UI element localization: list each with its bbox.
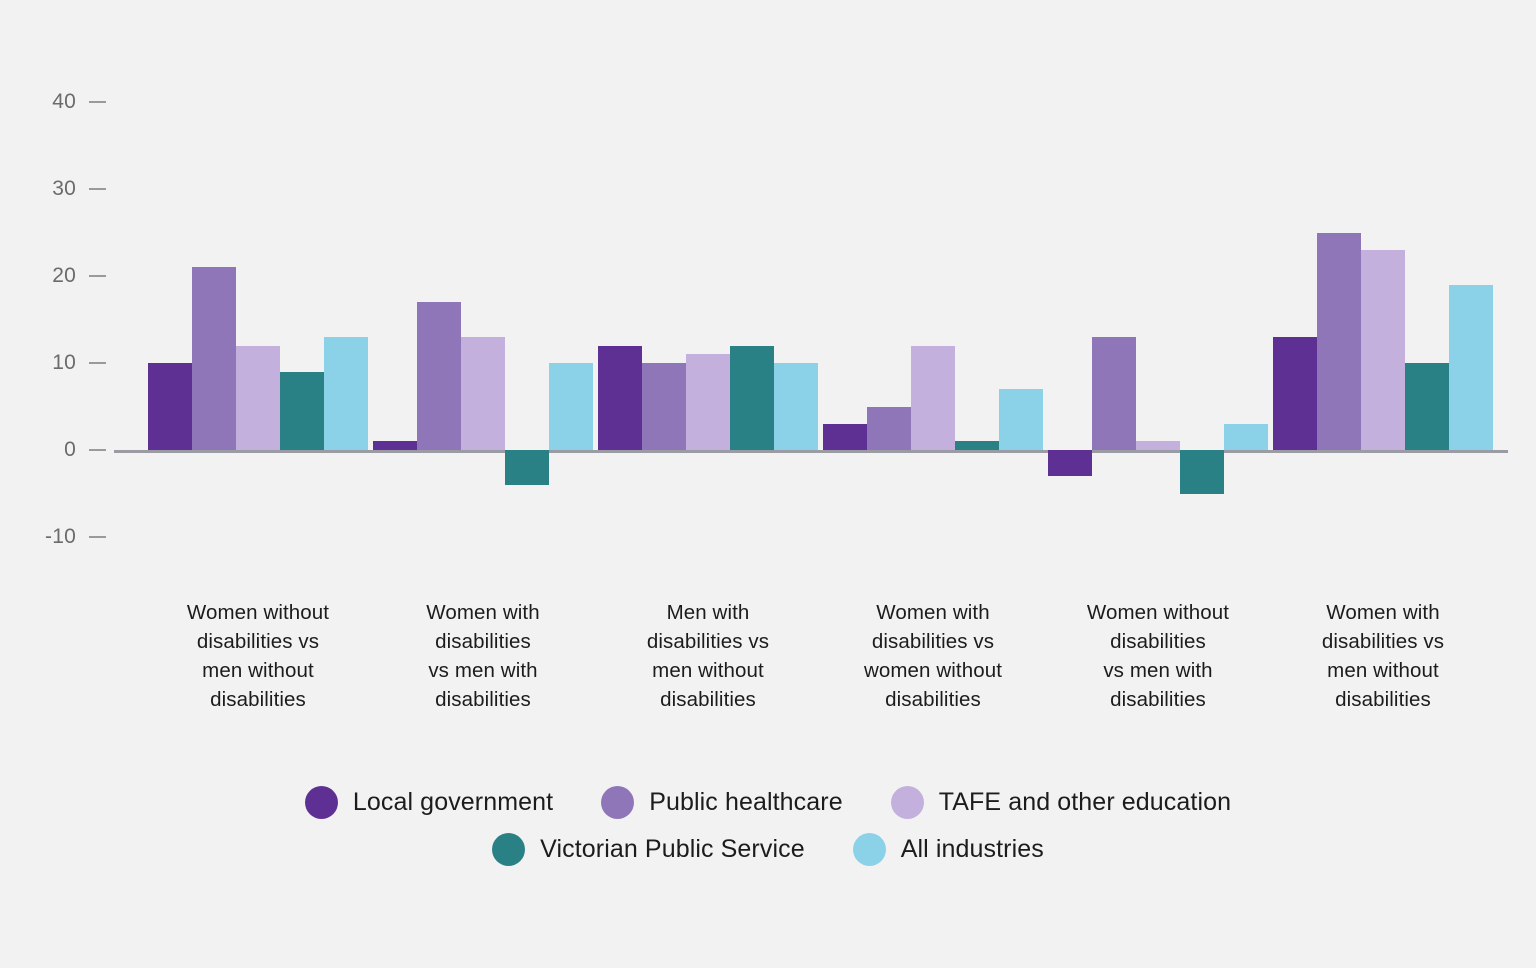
bar <box>505 450 549 485</box>
bar <box>774 363 818 450</box>
y-axis-tick-label: 10 <box>52 353 76 373</box>
bar <box>1136 441 1180 450</box>
bar <box>417 302 461 450</box>
y-axis-tick: -10 <box>0 527 118 547</box>
bar <box>686 354 730 450</box>
bar-chart: 403020100-10 Women withoutdisabilities v… <box>0 0 1536 968</box>
legend-label: Local government <box>353 788 553 817</box>
bar <box>1449 285 1493 450</box>
y-axis-tick-mark <box>89 275 106 277</box>
bar <box>823 424 867 450</box>
legend-label: Public healthcare <box>649 788 843 817</box>
bar <box>280 372 324 450</box>
legend-swatch-circle-icon <box>305 786 338 819</box>
legend-swatch-circle-icon <box>492 833 525 866</box>
legend-row-1: Local governmentPublic healthcareTAFE an… <box>0 786 1536 819</box>
y-axis-tick-mark <box>89 362 106 364</box>
x-axis-label: Women withdisabilities vsmen withoutdisa… <box>1251 598 1515 714</box>
y-axis-tick-label: 0 <box>64 440 76 460</box>
bar <box>1092 337 1136 450</box>
y-axis-tick: 30 <box>0 179 118 199</box>
bar <box>549 363 593 450</box>
bar <box>1405 363 1449 450</box>
bar <box>324 337 368 450</box>
legend-item[interactable]: Victorian Public Service <box>492 833 805 866</box>
legend-item[interactable]: Public healthcare <box>601 786 843 819</box>
bar <box>1361 250 1405 450</box>
y-axis-tick-mark <box>89 449 106 451</box>
y-axis-tick-mark <box>89 188 106 190</box>
bar <box>1048 450 1092 476</box>
bar <box>867 407 911 451</box>
bar <box>955 441 999 450</box>
bar <box>192 267 236 450</box>
y-axis-tick-label: 20 <box>52 266 76 286</box>
bar <box>911 346 955 450</box>
legend-swatch-circle-icon <box>601 786 634 819</box>
legend-item[interactable]: Local government <box>305 786 553 819</box>
legend-row-2: Victorian Public ServiceAll industries <box>0 833 1536 866</box>
y-axis-tick-label: -10 <box>45 527 76 547</box>
legend-item[interactable]: All industries <box>853 833 1044 866</box>
bar <box>1273 337 1317 450</box>
legend-label: TAFE and other education <box>939 788 1231 817</box>
bar <box>999 389 1043 450</box>
bar <box>642 363 686 450</box>
chart-legend: Local governmentPublic healthcareTAFE an… <box>0 786 1536 880</box>
bar <box>1224 424 1268 450</box>
y-axis-tick-label: 40 <box>52 92 76 112</box>
legend-label: Victorian Public Service <box>540 835 805 864</box>
bar <box>148 363 192 450</box>
bar <box>373 441 417 450</box>
y-axis: 403020100-10 <box>0 0 118 600</box>
y-axis-tick: 20 <box>0 266 118 286</box>
y-axis-tick-mark <box>89 536 106 538</box>
legend-swatch-circle-icon <box>891 786 924 819</box>
bar <box>730 346 774 450</box>
bar <box>461 337 505 450</box>
legend-item[interactable]: TAFE and other education <box>891 786 1231 819</box>
bar <box>1180 450 1224 494</box>
y-axis-tick: 10 <box>0 353 118 373</box>
bar <box>1317 233 1361 451</box>
y-axis-tick: 40 <box>0 92 118 112</box>
y-axis-tick-label: 30 <box>52 179 76 199</box>
y-axis-tick: 0 <box>0 440 118 460</box>
bar <box>598 346 642 450</box>
legend-swatch-circle-icon <box>853 833 886 866</box>
legend-label: All industries <box>901 835 1044 864</box>
bar <box>236 346 280 450</box>
y-axis-tick-mark <box>89 101 106 103</box>
